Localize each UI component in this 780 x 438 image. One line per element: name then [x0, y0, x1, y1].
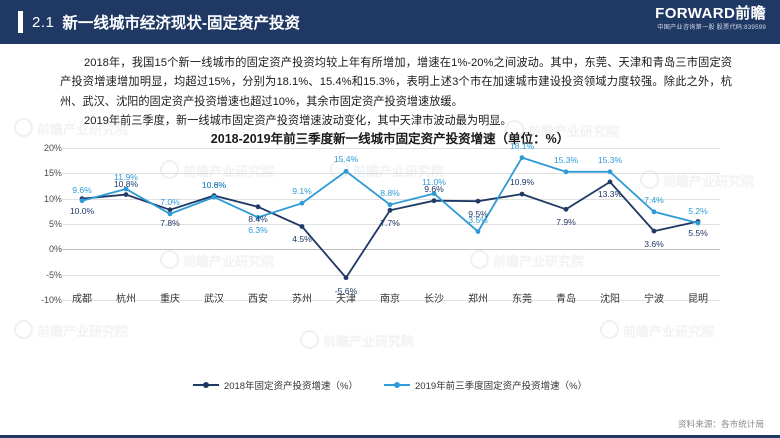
data-point [124, 192, 129, 197]
data-point [168, 212, 173, 217]
x-axis-tick-label: 宁波 [644, 290, 664, 305]
legend-swatch-2018 [193, 384, 219, 386]
data-point [212, 195, 217, 200]
data-label: 11.0% [422, 177, 446, 187]
data-label: 7.4% [644, 195, 664, 205]
slide-header: 2.1 新一线城市经济现状-固定资产投资 FORWARD前瞻 中国产业咨询第一股… [0, 0, 780, 44]
chart-plot-area: 10.0%10.8%7.8%10.6%8.4%4.5%-5.6%7.7%9.6%… [60, 148, 720, 300]
data-label: 5.2% [688, 206, 708, 216]
data-point [652, 229, 657, 234]
data-point [432, 198, 437, 203]
data-point [476, 199, 481, 204]
x-axis-tick-label: 昆明 [688, 290, 708, 305]
data-label: 8.8% [380, 188, 400, 198]
brand-logo: FORWARD前瞻 中国产业咨询第一股 股票代码:839599 [655, 5, 766, 31]
data-point [300, 224, 305, 229]
brand-name: FORWARD前瞻 [655, 5, 766, 22]
watermark: 前瞻产业研究院 [14, 320, 128, 340]
watermark: 前瞻产业研究院 [600, 320, 714, 340]
chart-legend: 2018年固定资产投资增速（%） 2019年前三季度固定资产投资增速（%） [0, 378, 780, 392]
data-label: 11.9% [114, 172, 138, 182]
watermark: 前瞻产业研究院 [300, 330, 414, 350]
data-label: 9.6% [72, 185, 92, 195]
legend-label-2019: 2019年前三季度固定资产投资增速（%） [415, 378, 587, 392]
data-label: 3.5% [468, 215, 488, 225]
data-label: 15.4% [334, 154, 358, 164]
x-axis-tick-label: 重庆 [160, 290, 180, 305]
x-axis-tick-label: 沈阳 [600, 290, 620, 305]
data-point [520, 192, 525, 197]
data-point [168, 207, 173, 212]
data-label: 9.1% [292, 186, 312, 196]
data-label: 7.8% [160, 218, 180, 228]
body-text: 2018年，我国15个新一线城市的固定资产投资均较上年有所增加，增速在1%-20… [60, 54, 732, 131]
data-point [388, 202, 393, 207]
paragraph-1: 2018年，我国15个新一线城市的固定资产投资均较上年有所增加，增速在1%-20… [60, 54, 732, 112]
data-point [344, 275, 349, 280]
legend-item-2019[interactable]: 2019年前三季度固定资产投资增速（%） [384, 378, 587, 392]
data-label: 6.3% [248, 225, 268, 235]
x-axis-tick-label: 郑州 [468, 290, 488, 305]
legend-item-2018[interactable]: 2018年固定资产投资增速（%） [193, 378, 358, 392]
x-axis-tick-label: 杭州 [116, 290, 136, 305]
data-point [652, 209, 657, 214]
data-label: 7.7% [380, 218, 400, 228]
x-axis-tick-label: 武汉 [204, 290, 224, 305]
source-note: 资料来源：各市统计局 [678, 418, 764, 430]
data-label: 8.4% [248, 214, 268, 224]
data-point [256, 204, 261, 209]
x-axis-tick-label: 西安 [248, 290, 268, 305]
x-axis: 成都杭州重庆武汉西安苏州天津南京长沙郑州东莞青岛沈阳宁波昆明 [60, 290, 720, 308]
brand-tagline: 中国产业咨询第一股 股票代码:839599 [655, 24, 766, 31]
data-point [476, 229, 481, 234]
data-point [564, 207, 569, 212]
x-axis-tick-label: 成都 [72, 290, 92, 305]
data-point [564, 169, 569, 174]
data-label: 15.3% [554, 155, 578, 165]
data-point [608, 169, 613, 174]
data-label: 7.9% [556, 217, 576, 227]
data-point [520, 155, 525, 160]
x-axis-tick-label: 长沙 [424, 290, 444, 305]
data-point [388, 208, 393, 213]
x-axis-tick-label: 东莞 [512, 290, 532, 305]
y-axis: -10%-5%0%5%10%15%20% [28, 142, 62, 310]
data-label: 3.6% [644, 239, 664, 249]
y-axis-tick-label: -10% [41, 295, 62, 305]
data-point [300, 201, 305, 206]
chart-title: 2018-2019年前三季度新一线城市固定资产投资增速（单位：%） [0, 128, 780, 147]
data-label: 13.3% [598, 189, 622, 199]
data-label: 18.1% [510, 141, 534, 151]
x-axis-tick-label: 苏州 [292, 290, 312, 305]
legend-swatch-2019 [384, 384, 410, 386]
data-point [696, 221, 701, 226]
x-axis-tick-label: 南京 [380, 290, 400, 305]
data-label: 7.0% [160, 197, 180, 207]
data-point [80, 198, 85, 203]
data-label: 10.3% [202, 180, 226, 190]
data-label: 5.5% [688, 228, 708, 238]
data-label: 10.9% [510, 177, 534, 187]
legend-label-2018: 2018年固定资产投资增速（%） [224, 378, 358, 392]
data-point [344, 169, 349, 174]
page-title: 新一线城市经济现状-固定资产投资 [62, 11, 300, 33]
header-section-number: 2.1 [32, 14, 54, 31]
data-label: 4.5% [292, 234, 312, 244]
data-point [608, 180, 613, 185]
data-label: 10.0% [70, 206, 94, 216]
header-accent-bar [18, 11, 23, 33]
x-axis-tick-label: 天津 [336, 290, 356, 305]
data-label: 15.3% [598, 155, 622, 165]
x-axis-tick-label: 青岛 [556, 290, 576, 305]
